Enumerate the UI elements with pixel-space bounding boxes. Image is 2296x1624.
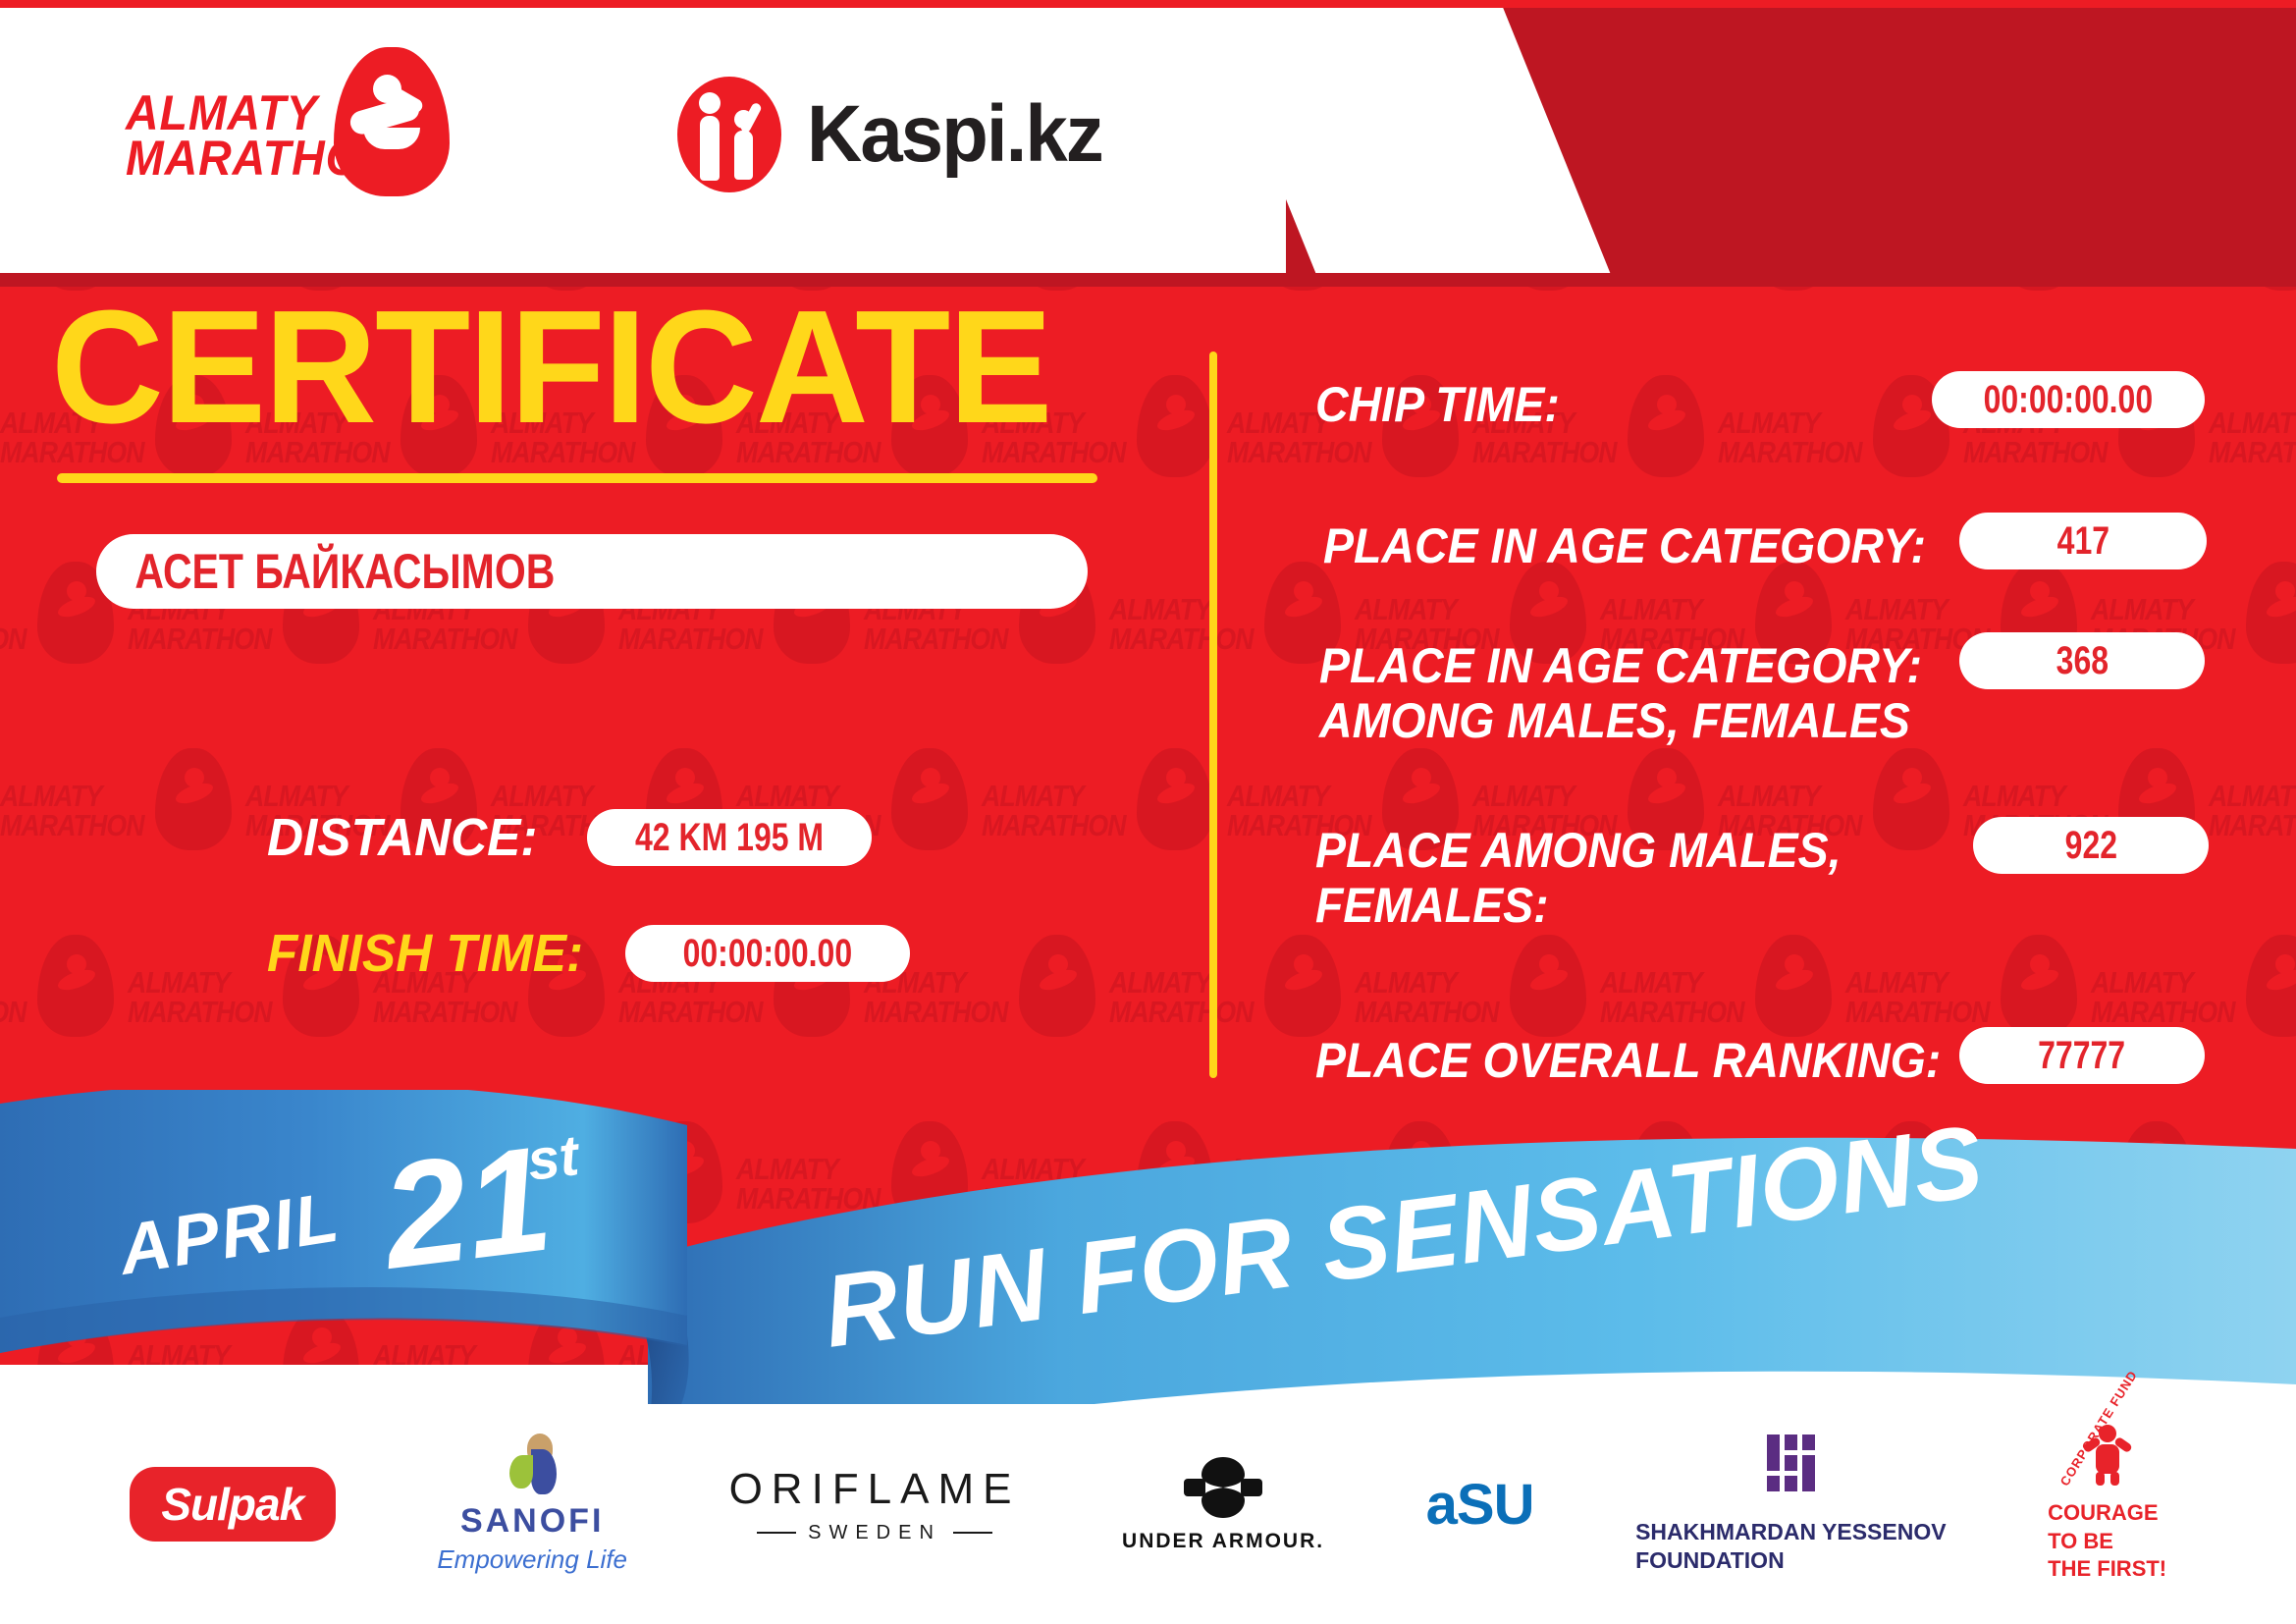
watermark-tile: ALMATYMARATHON (2209, 746, 2296, 933)
courage-fund-label: COURAGE TO BE THE FIRST! (2048, 1499, 2166, 1584)
finish-time-value-pill: 00:00:00.00 (625, 925, 910, 982)
oriflame-sub-label: SWEDEN (808, 1522, 941, 1544)
place-age-category-gender-value-pill: 368 (1959, 632, 2205, 689)
watermark-droplet-icon (1755, 935, 1832, 1037)
sponsor-courage-fund: CORPORATE FUND COURAGE TO BE THE FIRST! (2048, 1425, 2166, 1584)
place-overall-ranking-value-pill: 77777 (1959, 1027, 2205, 1084)
watermark-text: ALMATYMARATHON (0, 782, 144, 841)
chip-time-row: CHIP TIME: 00:00:00.00 (1315, 377, 1578, 432)
sponsor-yessenov-foundation: SHAKHMARDAN YESSENOV FOUNDATION (1635, 1435, 1947, 1575)
watermark-text: ALMATYMARATHON (2209, 782, 2296, 841)
watermark-text: ALMATYMARATHON (1109, 968, 1254, 1028)
watermark-droplet-icon (37, 935, 114, 1037)
sponsor-sanofi: SANOFI Empowering Life (437, 1434, 627, 1575)
place-among-gender-label: PLACE AMONG MALES, FEMALES: (1315, 823, 1842, 933)
watermark-droplet-icon (1510, 935, 1586, 1037)
place-among-gender-value-pill: 922 (1973, 817, 2209, 874)
watermark-droplet-icon (155, 748, 232, 850)
chip-time-value-pill: 00:00:00.00 (1932, 371, 2205, 428)
finish-time-label: FINISH TIME: (267, 923, 583, 984)
watermark-tile: ALMATYMARATHON (1109, 560, 1355, 746)
place-age-category-label: PLACE IN AGE CATEGORY: (1323, 518, 1926, 573)
watermark-droplet-icon (1137, 375, 1213, 477)
yessenov-label: SHAKHMARDAN YESSENOV FOUNDATION (1635, 1518, 1947, 1575)
distance-label: DISTANCE: (267, 807, 538, 868)
distance-value-pill: 42 KM 195 M (587, 809, 872, 866)
page-title: CERTIFICATE (51, 287, 1051, 448)
sulpak-label: Sulpak (161, 1478, 303, 1531)
watermark-droplet-icon (1137, 748, 1213, 850)
almaty-marathon-logo: ALMATY MARATHON (126, 65, 450, 202)
sponsor-asu: aSU (1426, 1472, 1534, 1538)
place-age-category-gender-label: PLACE IN AGE CATEGORY: AMONG MALES, FEMA… (1319, 638, 1922, 748)
watermark-text: ALMATYMARATHON (2091, 968, 2235, 1028)
watermark-text: ALMATYMARATHON (1109, 595, 1254, 655)
watermark-text: ALMATYMARATHON (1718, 408, 1862, 468)
oriflame-label: ORIFLAME (729, 1465, 1021, 1514)
participant-name-field: АСЕТ БАЙКАСЫМОВ (96, 534, 1088, 609)
watermark-tile: ALMATYMARATHON (2209, 373, 2296, 560)
column-divider (1209, 352, 1217, 1078)
watermark-text: ALMATYMARATHON (1600, 968, 1744, 1028)
sanofi-label: SANOFI (460, 1502, 604, 1541)
sanofi-mark-icon (498, 1434, 566, 1496)
distance-row: DISTANCE: 42 KM 195 M (267, 807, 872, 868)
place-age-category-gender-value: 368 (2056, 639, 2108, 683)
oriflame-rule-left (757, 1532, 796, 1534)
watermark-text: ALMATYMARATHON (1355, 968, 1499, 1028)
title-underline (57, 473, 1097, 483)
kaspi-people-icon (677, 77, 781, 192)
runner-droplet-icon (334, 47, 450, 196)
kaspi-wordmark: Kaspi.kz (807, 88, 1102, 181)
finish-time-row: FINISH TIME: 00:00:00.00 (267, 923, 910, 984)
watermark-text: ALMATYMARATHON (0, 595, 27, 655)
watermark-text: ALMATYMARATHON (2209, 408, 2296, 468)
chip-time-label: CHIP TIME: (1315, 377, 1560, 432)
place-among-gender-value: 922 (2064, 824, 2116, 868)
place-age-category-row: PLACE IN AGE CATEGORY: 417 (1323, 518, 1971, 573)
asu-label: aSU (1426, 1472, 1534, 1538)
watermark-tile: ALMATYMARATHON (982, 746, 1227, 933)
sponsor-sulpak: Sulpak (130, 1467, 336, 1542)
place-among-gender-row: PLACE AMONG MALES, FEMALES: 922 (1315, 823, 1881, 933)
under-armour-label: UNDER ARMOUR. (1122, 1530, 1324, 1553)
watermark-tile: ALMATYMARATHON (0, 746, 245, 933)
oriflame-rule-right (953, 1532, 992, 1534)
watermark-droplet-icon (1873, 748, 1949, 850)
finish-time-value: 00:00:00.00 (683, 932, 853, 976)
watermark-droplet-icon (2246, 562, 2296, 664)
oriflame-sub-row: SWEDEN (757, 1522, 992, 1544)
participant-name-value: АСЕТ БАЙКАСЫМОВ (96, 543, 555, 600)
watermark-droplet-icon (1264, 935, 1341, 1037)
watermark-text: ALMATYMARATHON (128, 968, 272, 1028)
chip-time-value: 00:00:00.00 (1984, 378, 2154, 422)
sponsor-oriflame: ORIFLAME SWEDEN (729, 1465, 1021, 1544)
place-overall-ranking-value: 77777 (2038, 1034, 2125, 1078)
place-overall-ranking-label: PLACE OVERALL RANKING: (1315, 1033, 1941, 1088)
sulpak-logo: Sulpak (130, 1467, 336, 1542)
sponsor-under-armour: UNDER ARMOUR. (1122, 1455, 1324, 1553)
under-armour-icon (1176, 1455, 1270, 1520)
certificate-canvas: ALMATYMARATHONALMATYMARATHONALMATYMARATH… (0, 0, 2296, 1624)
watermark-droplet-icon (2246, 935, 2296, 1037)
watermark-text: ALMATYMARATHON (1845, 968, 1990, 1028)
watermark-text: ALMATYMARATHON (0, 968, 27, 1028)
place-age-category-value-pill: 417 (1959, 513, 2207, 569)
header-top-rule (0, 0, 2296, 8)
sanofi-tagline: Empowering Life (437, 1544, 627, 1575)
watermark-text: ALMATYMARATHON (982, 782, 1126, 841)
yessenov-bars-icon (1767, 1435, 1815, 1496)
kaspi-logo: Kaspi.kz (677, 77, 1118, 192)
courage-fund-figure-icon (2083, 1425, 2132, 1486)
place-age-category-value: 417 (2056, 519, 2109, 564)
event-date-ribbon: APRIL 21 st RUN FOR SENSATIONS (0, 1090, 2296, 1404)
watermark-droplet-icon (891, 748, 968, 850)
place-age-category-gender-row: PLACE IN AGE CATEGORY: AMONG MALES, FEMA… (1319, 638, 1967, 748)
watermark-droplet-icon (1019, 935, 1095, 1037)
watermark-droplet-icon (2001, 935, 2077, 1037)
distance-value: 42 KM 195 M (635, 816, 824, 860)
place-overall-ranking-row: PLACE OVERALL RANKING: 77777 (1315, 1033, 1988, 1088)
watermark-droplet-icon (1628, 375, 1704, 477)
sponsor-strip: Sulpak SANOFI Empowering Life ORIFLAME S… (0, 1406, 2296, 1602)
